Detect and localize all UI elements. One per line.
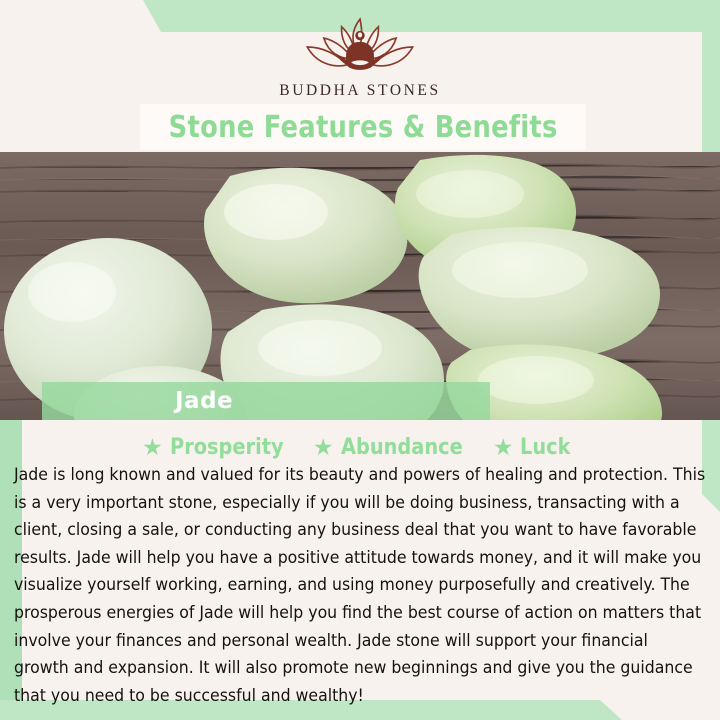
benefit-label: Luck	[520, 435, 570, 460]
stone-name: Jade	[175, 388, 233, 414]
lotus-meditation-icon	[295, 14, 425, 80]
page-title: Stone Features & Benefits	[169, 110, 558, 145]
benefit-item-luck: ★ Luck	[493, 435, 578, 460]
benefit-item-prosperity: ★ Prosperity	[142, 435, 299, 460]
star-icon: ★	[142, 436, 163, 459]
page-title-band: Stone Features & Benefits	[140, 104, 586, 150]
stone-description: Jade is long known and valued for its be…	[14, 462, 706, 710]
brand-name: BUDDHA STONES	[279, 82, 440, 100]
brand-logo: BUDDHA STONES	[0, 14, 720, 110]
stone-photo	[0, 152, 720, 420]
benefit-item-abundance: ★ Abundance	[313, 435, 479, 460]
stone-name-band: Jade	[42, 382, 490, 420]
star-icon: ★	[313, 436, 334, 459]
benefit-label: Prosperity	[170, 435, 284, 460]
benefit-label: Abundance	[341, 435, 463, 460]
benefits-row: ★ Prosperity ★ Abundance ★ Luck	[0, 430, 720, 464]
star-icon: ★	[493, 436, 514, 459]
